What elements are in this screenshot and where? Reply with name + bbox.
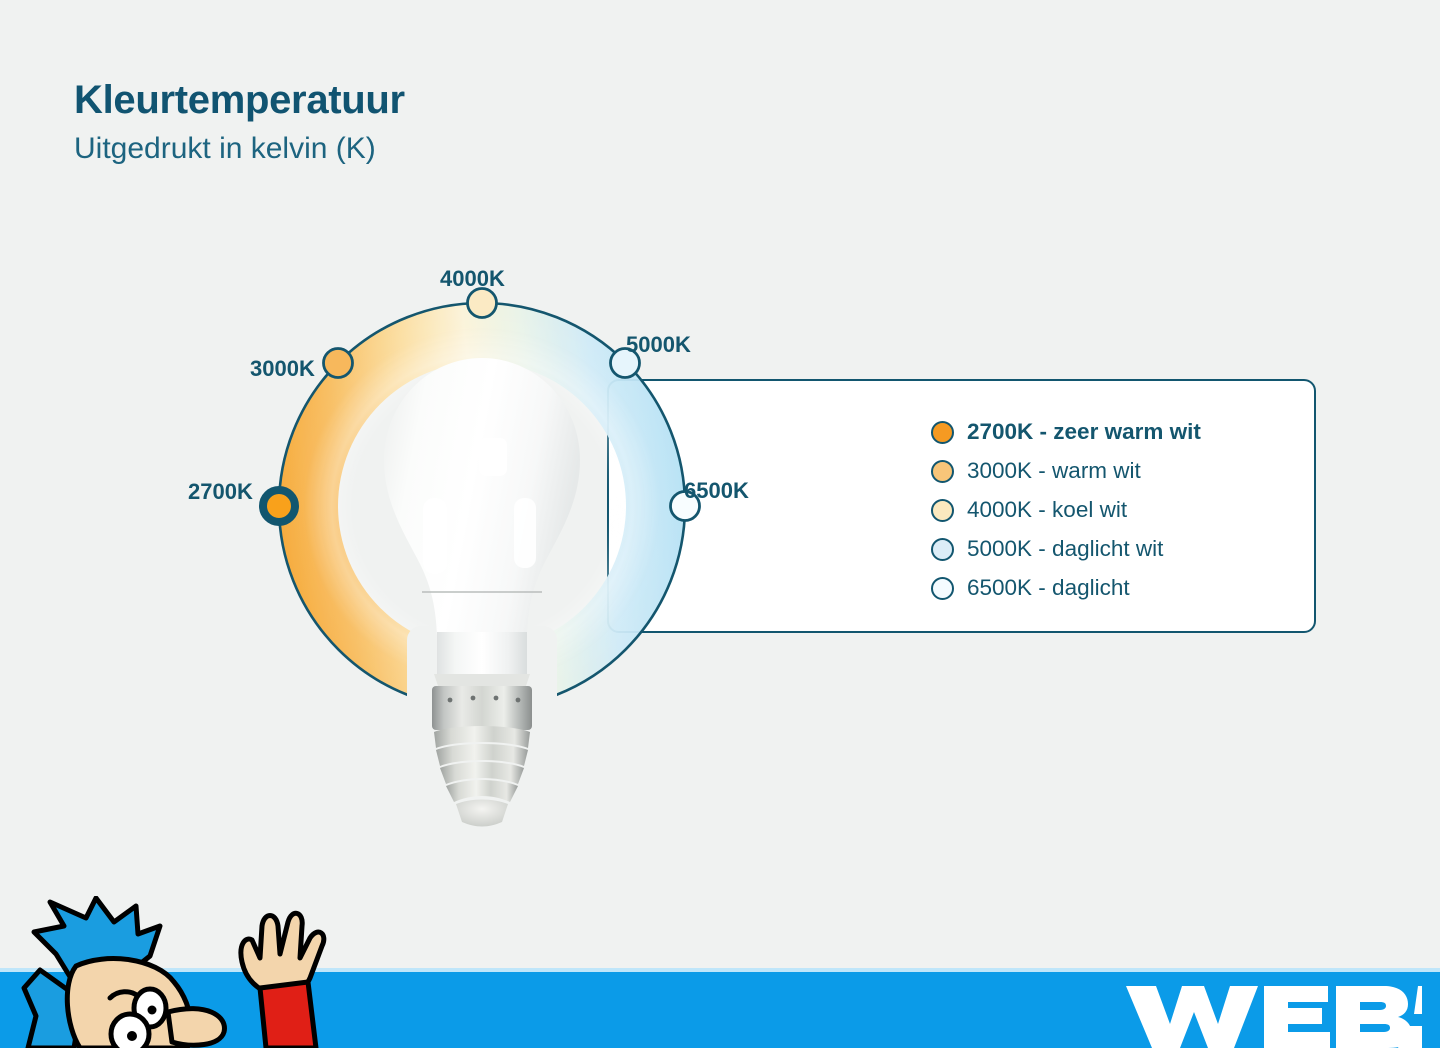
bulb-metal-cap: [432, 686, 532, 730]
legend-item-2700k[interactable]: 2700K - zeer warm wit: [931, 413, 1201, 452]
tick-label-5000k: 5000K: [626, 332, 691, 358]
legend-swatch-3000k: [931, 460, 954, 483]
mascot-pupil-right: [127, 1031, 137, 1041]
legend-label-6500k: 6500K - daglicht: [967, 577, 1130, 600]
bulb-highlight-top: [479, 438, 507, 476]
bulb-highlight-right: [514, 498, 536, 568]
bulb-foot-contact: [456, 800, 508, 827]
legend-item-4000k[interactable]: 4000K - koel wit: [931, 491, 1201, 530]
diagram-stage: 2700K - zeer warm wit 3000K - warm wit 4…: [0, 0, 1440, 972]
mascot-nose: [168, 1009, 224, 1046]
mascot-character: [10, 896, 380, 1048]
bulb-svg: [376, 352, 588, 852]
legend-swatch-4000k: [931, 499, 954, 522]
legend-label-3000k: 3000K - warm wit: [967, 460, 1141, 483]
legend-item-6500k[interactable]: 6500K - daglicht: [931, 569, 1201, 608]
cap-dimple-2: [471, 696, 476, 701]
legend-label-4000k: 4000K - koel wit: [967, 499, 1127, 522]
legend-swatch-6500k: [931, 577, 954, 600]
legend-item-3000k[interactable]: 3000K - warm wit: [931, 452, 1201, 491]
cap-dimple-3: [494, 696, 499, 701]
tick-marker-4000k[interactable]: [468, 289, 497, 318]
bulb-screw-thread: [434, 726, 530, 802]
cap-dimple-4: [516, 698, 521, 703]
legend-list: 2700K - zeer warm wit 3000K - warm wit 4…: [931, 413, 1201, 608]
cap-dimple-1: [448, 698, 453, 703]
tick-label-2700k: 2700K: [188, 479, 253, 505]
bulb-neck: [437, 632, 527, 674]
mascot-sleeve: [260, 982, 316, 1048]
mascot-eye-right: [111, 1014, 149, 1048]
mascot-pupil-left: [148, 1006, 157, 1015]
infographic-page: Kleurtemperatuur Uitgedrukt in kelvin (K…: [0, 0, 1440, 1048]
light-bulb-illustration: [376, 352, 588, 852]
tick-label-3000k: 3000K: [250, 356, 315, 382]
tick-marker-2700k[interactable]: [263, 490, 295, 522]
legend-label-2700k: 2700K - zeer warm wit: [967, 421, 1201, 444]
bulb-glass: [384, 358, 580, 670]
bulb-highlight-left: [423, 498, 447, 574]
bulb-collar: [434, 674, 530, 686]
legend-item-5000k[interactable]: 5000K - daglicht wit: [931, 530, 1201, 569]
tick-marker-3000k[interactable]: [324, 349, 353, 378]
weba-wordmark: [1126, 986, 1422, 1048]
tick-label-4000k: 4000K: [440, 266, 505, 292]
legend-swatch-5000k: [931, 538, 954, 561]
legend-label-5000k: 5000K - daglicht wit: [967, 538, 1163, 561]
weba-logo: [1122, 980, 1422, 1048]
legend-panel: 2700K - zeer warm wit 3000K - warm wit 4…: [607, 379, 1316, 633]
legend-swatch-2700k: [931, 421, 954, 444]
mascot-svg: [10, 896, 380, 1048]
tick-label-6500k: 6500K: [684, 478, 749, 504]
weba-logo-svg: [1122, 980, 1422, 1048]
